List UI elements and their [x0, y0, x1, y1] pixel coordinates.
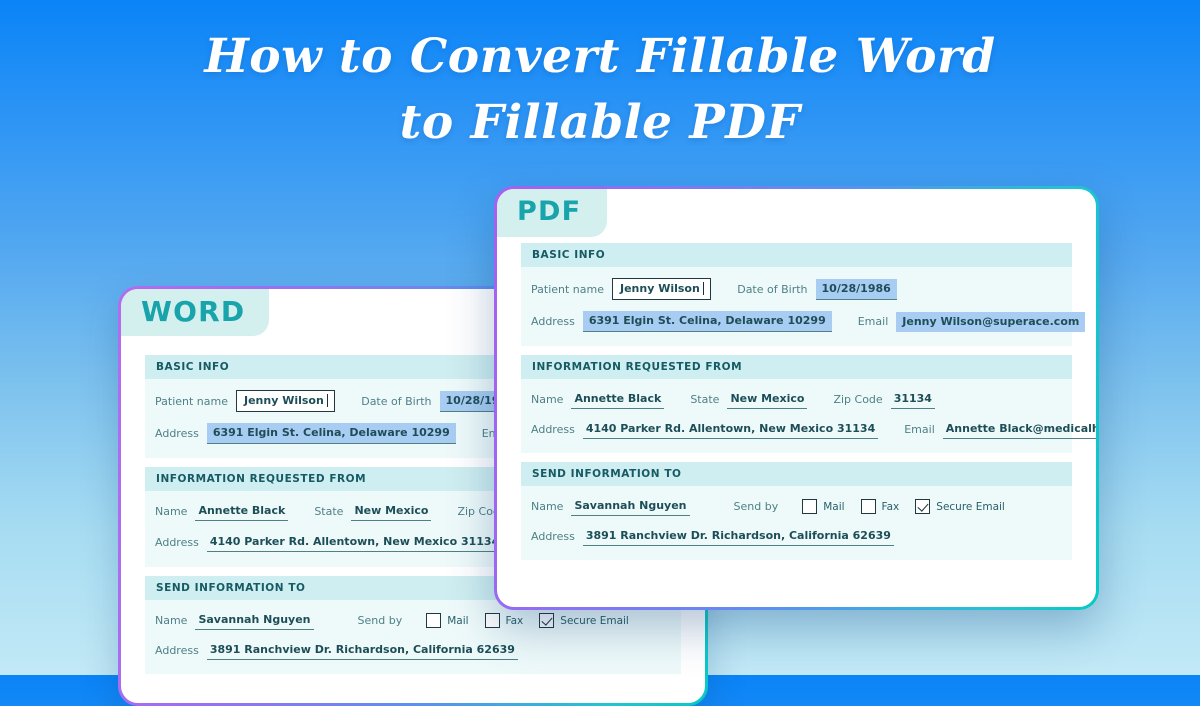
empty-checkbox-icon[interactable]: [861, 499, 876, 514]
field-value-patient-name: Jenny Wilson: [244, 394, 324, 407]
field-value-name[interactable]: Savannah Nguyen: [195, 611, 313, 630]
send-by-label: Send by: [358, 614, 403, 627]
checkmark-icon[interactable]: [539, 613, 554, 628]
field-value-state[interactable]: New Mexico: [727, 390, 807, 409]
empty-checkbox-icon[interactable]: [485, 613, 500, 628]
word-filetype-tab: WORD: [121, 289, 269, 336]
field-label-name: Name: [531, 393, 563, 406]
field-value-address[interactable]: 3891 Ranchview Dr. Richardson, Californi…: [583, 527, 894, 546]
field-label-email: Email: [858, 315, 889, 328]
form-row: Address3891 Ranchview Dr. Richardson, Ca…: [531, 527, 1062, 546]
form-section: SEND INFORMATION TONameSavannah NguyenSe…: [521, 462, 1072, 560]
send-by-label: Send by: [734, 500, 779, 513]
field-label-zip-code: Zip Code: [833, 393, 882, 406]
field-label-address: Address: [155, 644, 199, 657]
field-label-date-of-birth: Date of Birth: [361, 395, 431, 408]
field-label-address: Address: [155, 536, 199, 549]
field-label-patient-name: Patient name: [155, 395, 228, 408]
form-row: Address3891 Ranchview Dr. Richardson, Ca…: [155, 641, 671, 660]
field-label-name: Name: [155, 505, 187, 518]
section-body: NameSavannah NguyenSend byMailFaxSecure …: [145, 600, 681, 674]
field-label-address: Address: [155, 427, 199, 440]
field-value-name[interactable]: Savannah Nguyen: [571, 497, 689, 516]
checkbox-label: Secure Email: [560, 615, 629, 627]
field-label-state: State: [690, 393, 719, 406]
checkbox-mail[interactable]: Mail: [426, 613, 468, 628]
empty-checkbox-icon[interactable]: [426, 613, 441, 628]
field-value-address[interactable]: 4140 Parker Rd. Allentown, New Mexico 31…: [207, 533, 502, 552]
field-value-name[interactable]: Annette Black: [195, 502, 288, 521]
pdf-form-body: BASIC INFOPatient nameJenny WilsonDate o…: [497, 243, 1096, 569]
section-body: NameSavannah NguyenSend byMailFaxSecure …: [521, 486, 1072, 560]
form-row: NameSavannah NguyenSend byMailFaxSecure …: [531, 497, 1062, 516]
field-value-email[interactable]: Jenny Wilson@superace.com: [896, 312, 1085, 332]
checkbox-label: Mail: [823, 501, 844, 513]
field-value-name[interactable]: Annette Black: [571, 390, 664, 409]
pdf-document-card[interactable]: PDF BASIC INFOPatient nameJenny WilsonDa…: [494, 186, 1099, 610]
section-body: Patient nameJenny WilsonDate of Birth10/…: [521, 267, 1072, 346]
field-value-address[interactable]: 3891 Ranchview Dr. Richardson, Californi…: [207, 641, 518, 660]
field-value-patient-name: Jenny Wilson: [620, 282, 700, 295]
field-value-state[interactable]: New Mexico: [351, 502, 431, 521]
section-heading: INFORMATION REQUESTED FROM: [521, 355, 1072, 379]
field-value-address[interactable]: 4140 Parker Rd. Allentown, New Mexico 31…: [583, 420, 878, 439]
empty-checkbox-icon[interactable]: [802, 499, 817, 514]
checkbox-fax[interactable]: Fax: [861, 499, 900, 514]
form-row: NameAnnette BlackStateNew MexicoZip Code…: [531, 390, 1062, 409]
field-value-patient-name-input[interactable]: Jenny Wilson: [612, 278, 711, 300]
page-title: How to Convert Fillable Word to Fillable…: [0, 24, 1200, 156]
field-label-address: Address: [531, 530, 575, 543]
checkmark-icon[interactable]: [915, 499, 930, 514]
text-cursor-icon: [327, 394, 328, 407]
field-value-email[interactable]: Annette Black@medicalhealth.com: [943, 420, 1096, 439]
section-heading: BASIC INFO: [521, 243, 1072, 267]
field-label-email: Email: [904, 423, 935, 436]
checkbox-label: Fax: [882, 501, 900, 513]
field-label-address: Address: [531, 423, 575, 436]
field-value-address[interactable]: 6391 Elgin St. Celina, Delaware 10299: [207, 423, 456, 444]
title-line-1: How to Convert Fillable Word: [0, 24, 1200, 90]
form-row: NameSavannah NguyenSend byMailFaxSecure …: [155, 611, 671, 630]
section-heading: SEND INFORMATION TO: [521, 462, 1072, 486]
form-row: Address4140 Parker Rd. Allentown, New Me…: [531, 420, 1062, 439]
pdf-card-inner: PDF BASIC INFOPatient nameJenny WilsonDa…: [497, 189, 1096, 607]
pdf-filetype-tab: PDF: [497, 189, 607, 237]
field-value-address[interactable]: 6391 Elgin St. Celina, Delaware 10299: [583, 311, 832, 332]
checkbox-label: Secure Email: [936, 501, 1005, 513]
field-label-state: State: [314, 505, 343, 518]
checkbox-secure-email[interactable]: Secure Email: [539, 613, 629, 628]
checkbox-secure-email[interactable]: Secure Email: [915, 499, 1005, 514]
form-row: Address6391 Elgin St. Celina, Delaware 1…: [531, 311, 1062, 332]
checkbox-mail[interactable]: Mail: [802, 499, 844, 514]
field-value-zip-code[interactable]: 31134: [891, 390, 935, 409]
field-value-date-of-birth[interactable]: 10/28/1986: [816, 279, 897, 300]
form-section: BASIC INFOPatient nameJenny WilsonDate o…: [521, 243, 1072, 346]
form-row: Patient nameJenny WilsonDate of Birth10/…: [531, 278, 1062, 300]
field-label-name: Name: [155, 614, 187, 627]
form-section: INFORMATION REQUESTED FROMNameAnnette Bl…: [521, 355, 1072, 453]
field-label-address: Address: [531, 315, 575, 328]
field-label-patient-name: Patient name: [531, 283, 604, 296]
checkbox-label: Fax: [506, 615, 524, 627]
send-by-checkbox-group: Send byMailFaxSecure Email: [358, 613, 629, 628]
checkbox-fax[interactable]: Fax: [485, 613, 524, 628]
send-by-checkbox-group: Send byMailFaxSecure Email: [734, 499, 1005, 514]
field-label-name: Name: [531, 500, 563, 513]
section-body: NameAnnette BlackStateNew MexicoZip Code…: [521, 379, 1072, 453]
field-value-patient-name-input[interactable]: Jenny Wilson: [236, 390, 335, 412]
text-cursor-icon: [703, 282, 704, 295]
title-line-2: to Fillable PDF: [0, 90, 1200, 156]
field-label-date-of-birth: Date of Birth: [737, 283, 807, 296]
checkbox-label: Mail: [447, 615, 468, 627]
